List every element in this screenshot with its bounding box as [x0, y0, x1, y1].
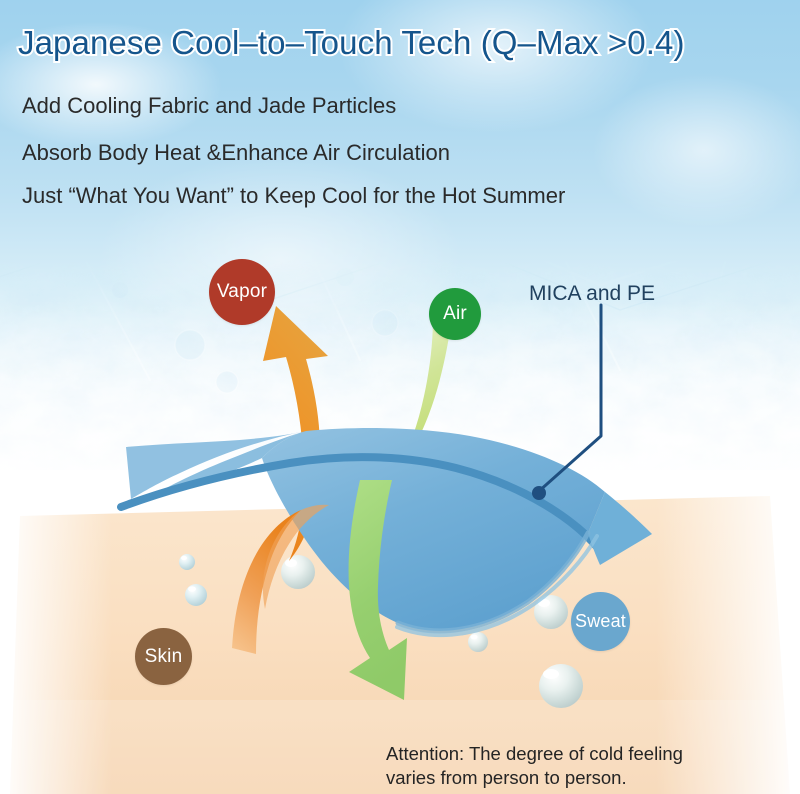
vapor-tag-label: Vapor [217, 281, 267, 303]
air-tag: Air [429, 288, 481, 340]
attention-note: Attention: The degree of cold feeling va… [386, 742, 683, 790]
sweat-tag: Sweat [571, 592, 630, 651]
skin-tag-label: Skin [145, 646, 183, 668]
attention-line-1: Attention: The degree of cold feeling [386, 742, 683, 766]
skin-tag: Skin [135, 628, 192, 685]
sweat-tag-label: Sweat [575, 611, 626, 632]
cooling-tech-diagram [0, 0, 800, 794]
air-tag-label: Air [443, 303, 467, 325]
attention-line-2: varies from person to person. [386, 766, 683, 790]
callout-endpoint-dot [532, 486, 546, 500]
mica-pe-callout-label: MICA and PE [529, 282, 655, 306]
poster-canvas: Japanese Cool–to–Touch Tech (Q–Max >0.4)… [0, 0, 800, 794]
vapor-tag: Vapor [209, 259, 275, 325]
